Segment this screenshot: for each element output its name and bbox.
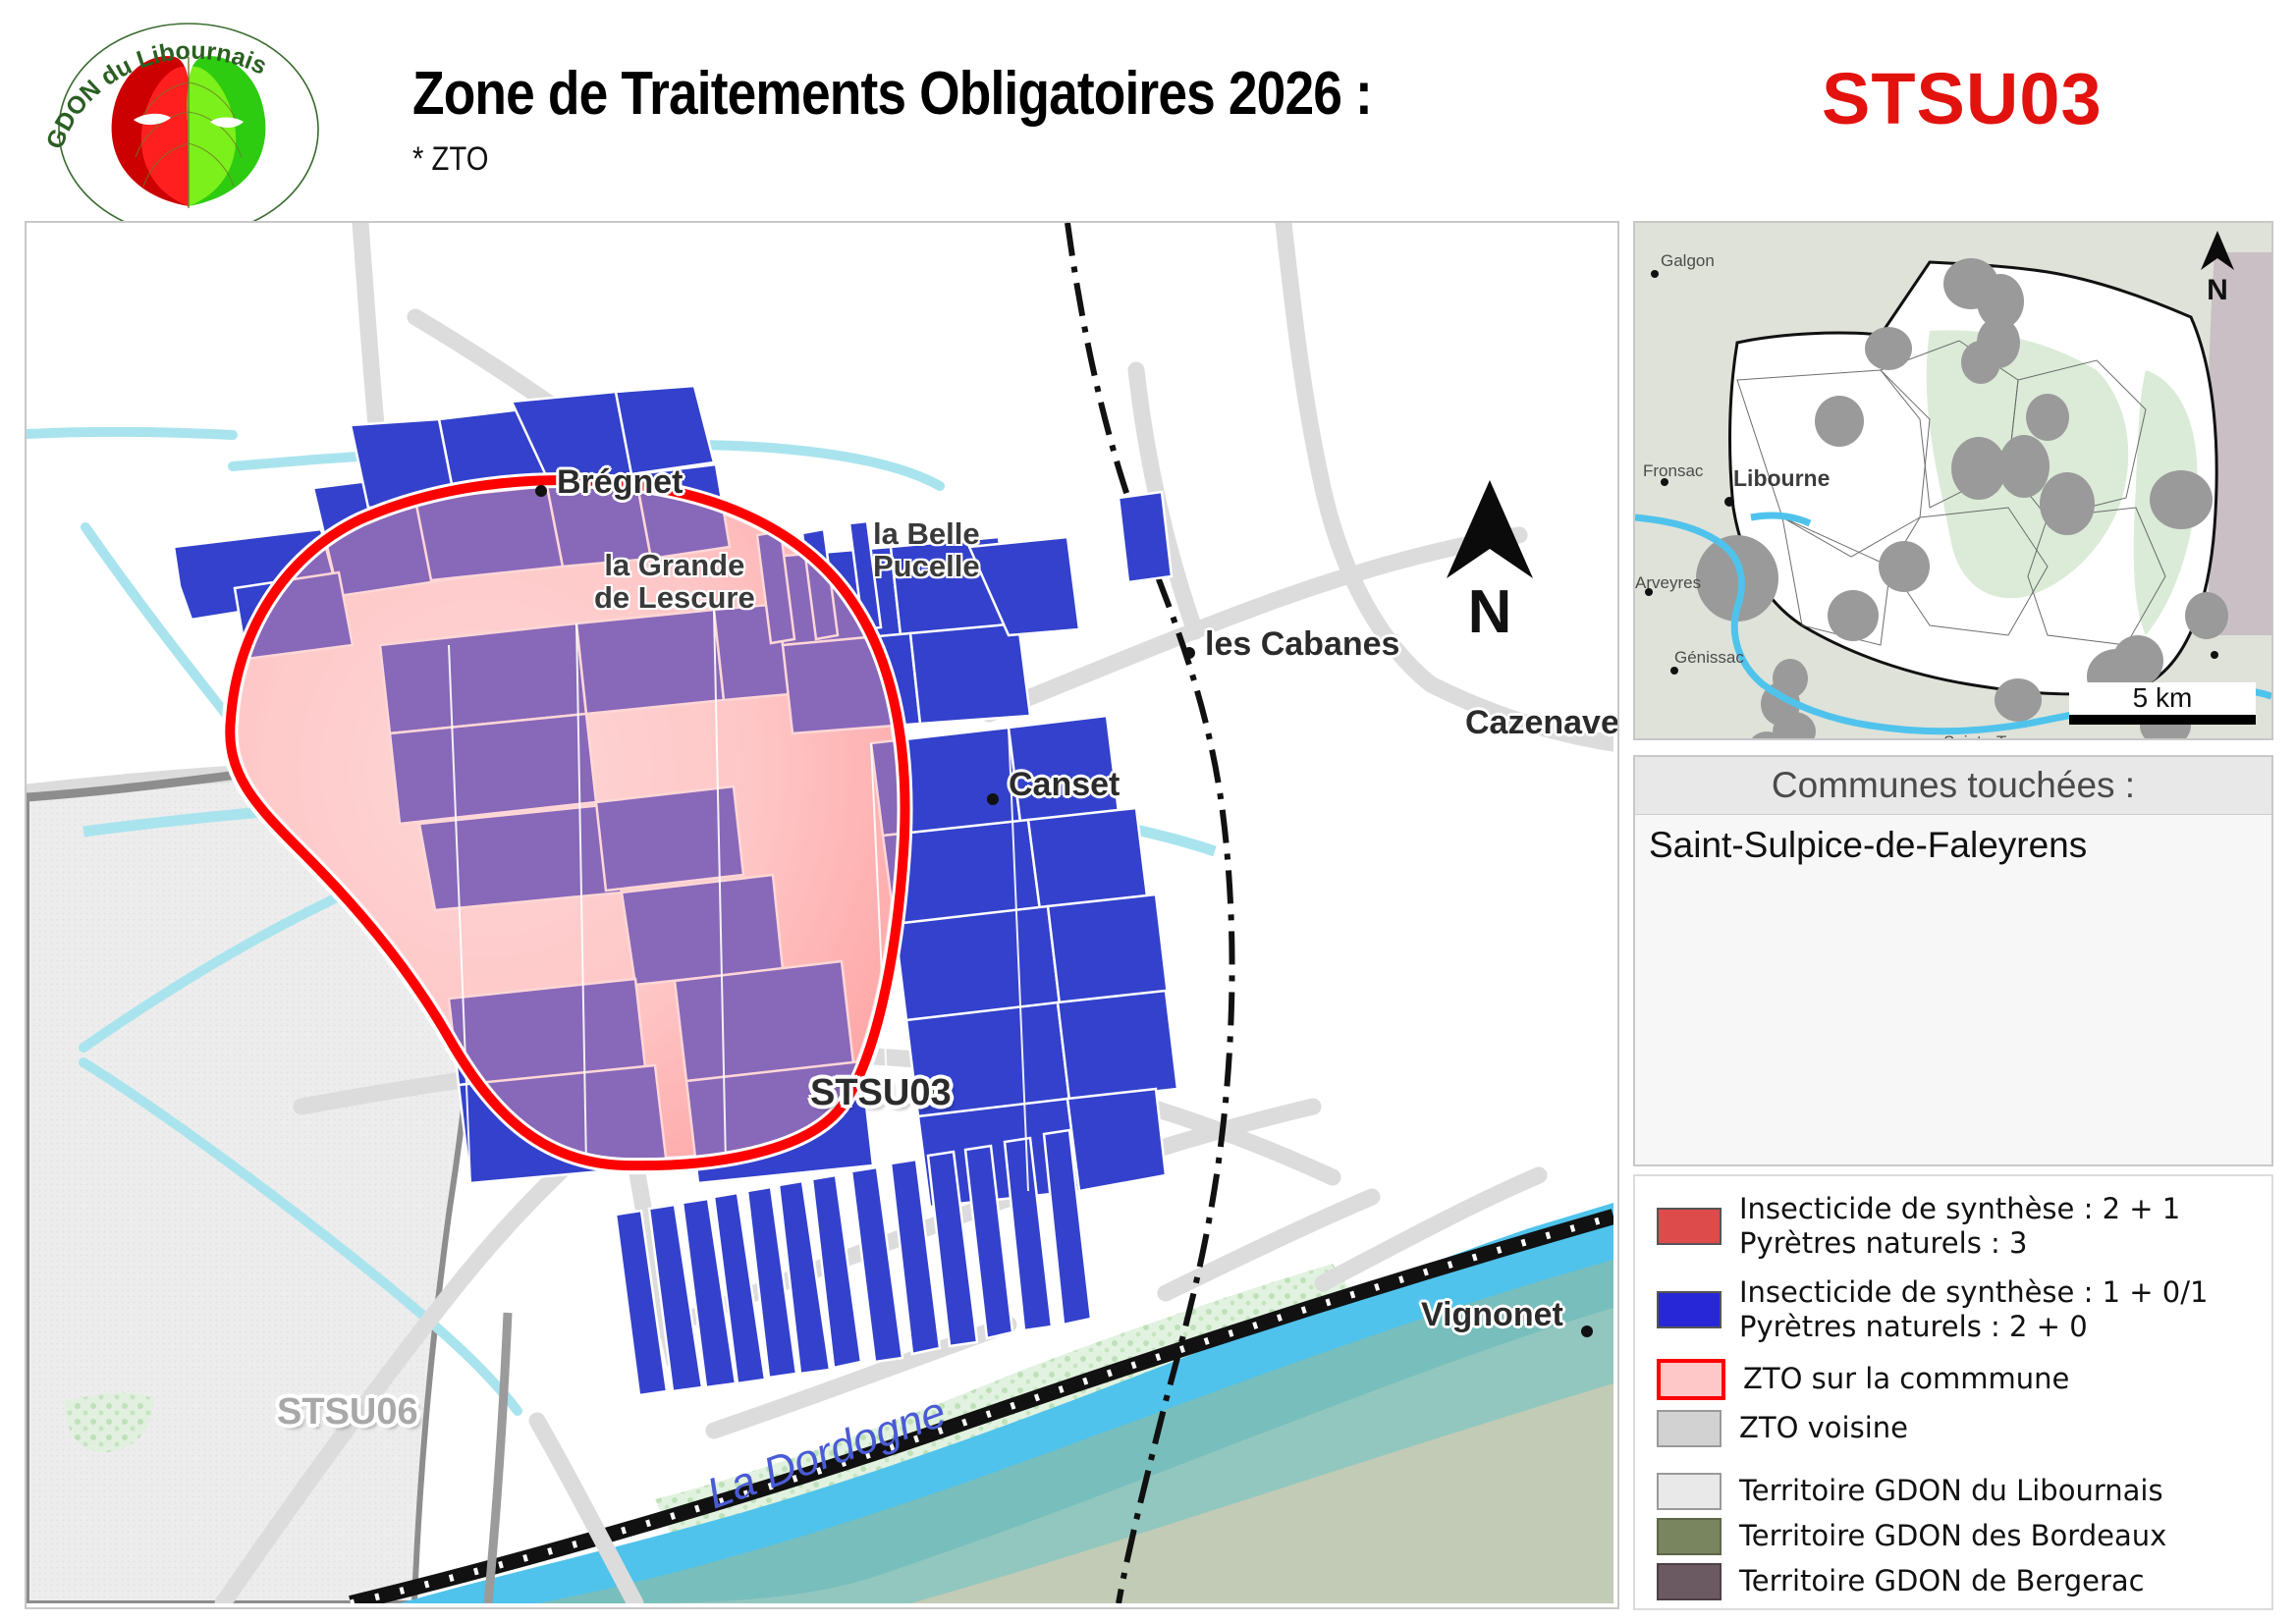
zone-label: STSU06 [277,1391,418,1434]
legend-label-line1: ZTO sur la commmune [1743,1362,2069,1396]
legend-label-line1: Territoire GDON de Bergerac [1739,1564,2145,1598]
north-arrow-icon [1431,476,1549,586]
legend-item: ZTO sur la commmune [1635,1359,2271,1400]
place-label: Vignonet [1421,1296,1563,1334]
inset-label-sainte-terre: Sainte-Terre [1943,732,2035,738]
place-dot [1581,1325,1593,1337]
overview-inset-map[interactable]: Galgon Fronsac Libourne Arveyres Génissa… [1633,221,2273,740]
inset-north-arrow: N [2185,229,2250,303]
inset-north-label: N [2185,277,2250,303]
place-label: Canset [1009,766,1120,804]
legend-label: Insecticide de synthèse : 2 + 1Pyrètres … [1739,1192,2180,1262]
zone-label: STSU03 [810,1072,952,1114]
communes-list: Saint-Sulpice-de-Faleyrens [1635,815,2271,868]
gdon-logo: GDON du Libournais [31,14,355,230]
legend-label-line2: Pyrètres naturels : 2 + 0 [1739,1310,2208,1344]
legend-label: ZTO voisine [1739,1411,1908,1445]
place-label: Vignereau [753,1605,914,1609]
legend-label-line1: ZTO voisine [1739,1411,1908,1445]
legend-label-line2: Pyrètres naturels : 3 [1739,1226,2180,1261]
inset-scale-label: 5 km [2069,682,2256,715]
page-header: GDON du Libournais Zone de Traitements O… [0,0,2296,221]
inset-scale-bar-graphic [2069,715,2256,725]
inset-label-fronsac: Fronsac [1643,461,1704,480]
legend-label: Territoire GDON des Bordeaux [1739,1519,2166,1553]
legend-label: Insecticide de synthèse : 1 + 0/1Pyrètre… [1739,1275,2208,1345]
hamlet-label: la Grandede Lescure [594,549,755,615]
inset-label-libourne: Libourne [1733,465,1830,491]
inset-scale-bar: 5 km [2069,682,2256,725]
communes-panel: Communes touchées : Saint-Sulpice-de-Fal… [1633,755,2273,1166]
legend-panel: Insecticide de synthèse : 2 + 1Pyrètres … [1633,1174,2273,1610]
legend-label-line1: Insecticide de synthèse : 2 + 1 [1739,1192,2180,1226]
north-arrow: N [1431,476,1549,640]
legend-item: ZTO voisine [1635,1410,2271,1447]
inset-north-arrow-icon [2195,229,2240,272]
legend-swatch [1657,1359,1725,1400]
legend-item: Territoire GDON des Bordeaux [1635,1518,2271,1555]
page-subtitle: * ZTO [412,140,1372,179]
commune-item: Saint-Sulpice-de-Faleyrens [1649,823,2258,868]
legend-label: ZTO sur la commmune [1743,1362,2069,1396]
inset-label-genissac: Génissac [1674,648,1744,667]
place-dot [987,793,999,805]
legend-item: Insecticide de synthèse : 1 + 0/1Pyrètre… [1635,1275,2271,1345]
main-map[interactable]: La Dordogne N 0 500 m STSU03STSU06Brégne… [25,221,1619,1609]
legend-swatch [1657,1473,1722,1510]
legend-label-line1: Insecticide de synthèse : 1 + 0/1 [1739,1275,2208,1310]
page-title: Zone de Traitements Obligatoires 2026 : [412,59,1372,129]
legend-label: Territoire GDON de Bergerac [1739,1564,2145,1598]
legend-swatch [1657,1291,1722,1328]
overview-inset-graphic: Galgon Fronsac Libourne Arveyres Génissa… [1635,223,2271,738]
north-arrow-label: N [1431,585,1549,640]
inset-label-galgon: Galgon [1661,251,1715,270]
place-label: Brégnet [557,463,683,502]
communes-panel-header: Communes touchées : [1635,757,2271,815]
place-label: les Cabanes [1205,625,1399,664]
legend-item: Territoire GDON du Libournais [1635,1473,2271,1510]
legend-swatch [1657,1563,1722,1600]
legend-swatch [1657,1410,1722,1447]
inset-label-arveyres: Arveyres [1635,573,1701,592]
zone-code-heading: STSU03 [1822,57,2103,140]
hamlet-label: la BellePucelle [873,517,980,583]
legend-item: Territoire GDON de Bergerac [1635,1563,2271,1600]
title-block: Zone de Traitements Obligatoires 2026 : … [412,59,1528,179]
legend-swatch [1657,1208,1722,1245]
legend-label-line1: Territoire GDON des Bordeaux [1739,1519,2166,1553]
legend-label-line1: Territoire GDON du Libournais [1739,1474,2163,1508]
legend-item: Insecticide de synthèse : 2 + 1Pyrètres … [1635,1192,2271,1262]
place-dot [535,485,547,497]
place-label: Cazenave [1465,704,1619,742]
main-map-graphic: La Dordogne [27,223,1613,1603]
place-dot [1183,647,1195,659]
legend-swatch [1657,1518,1722,1555]
legend-label: Territoire GDON du Libournais [1739,1474,2163,1508]
